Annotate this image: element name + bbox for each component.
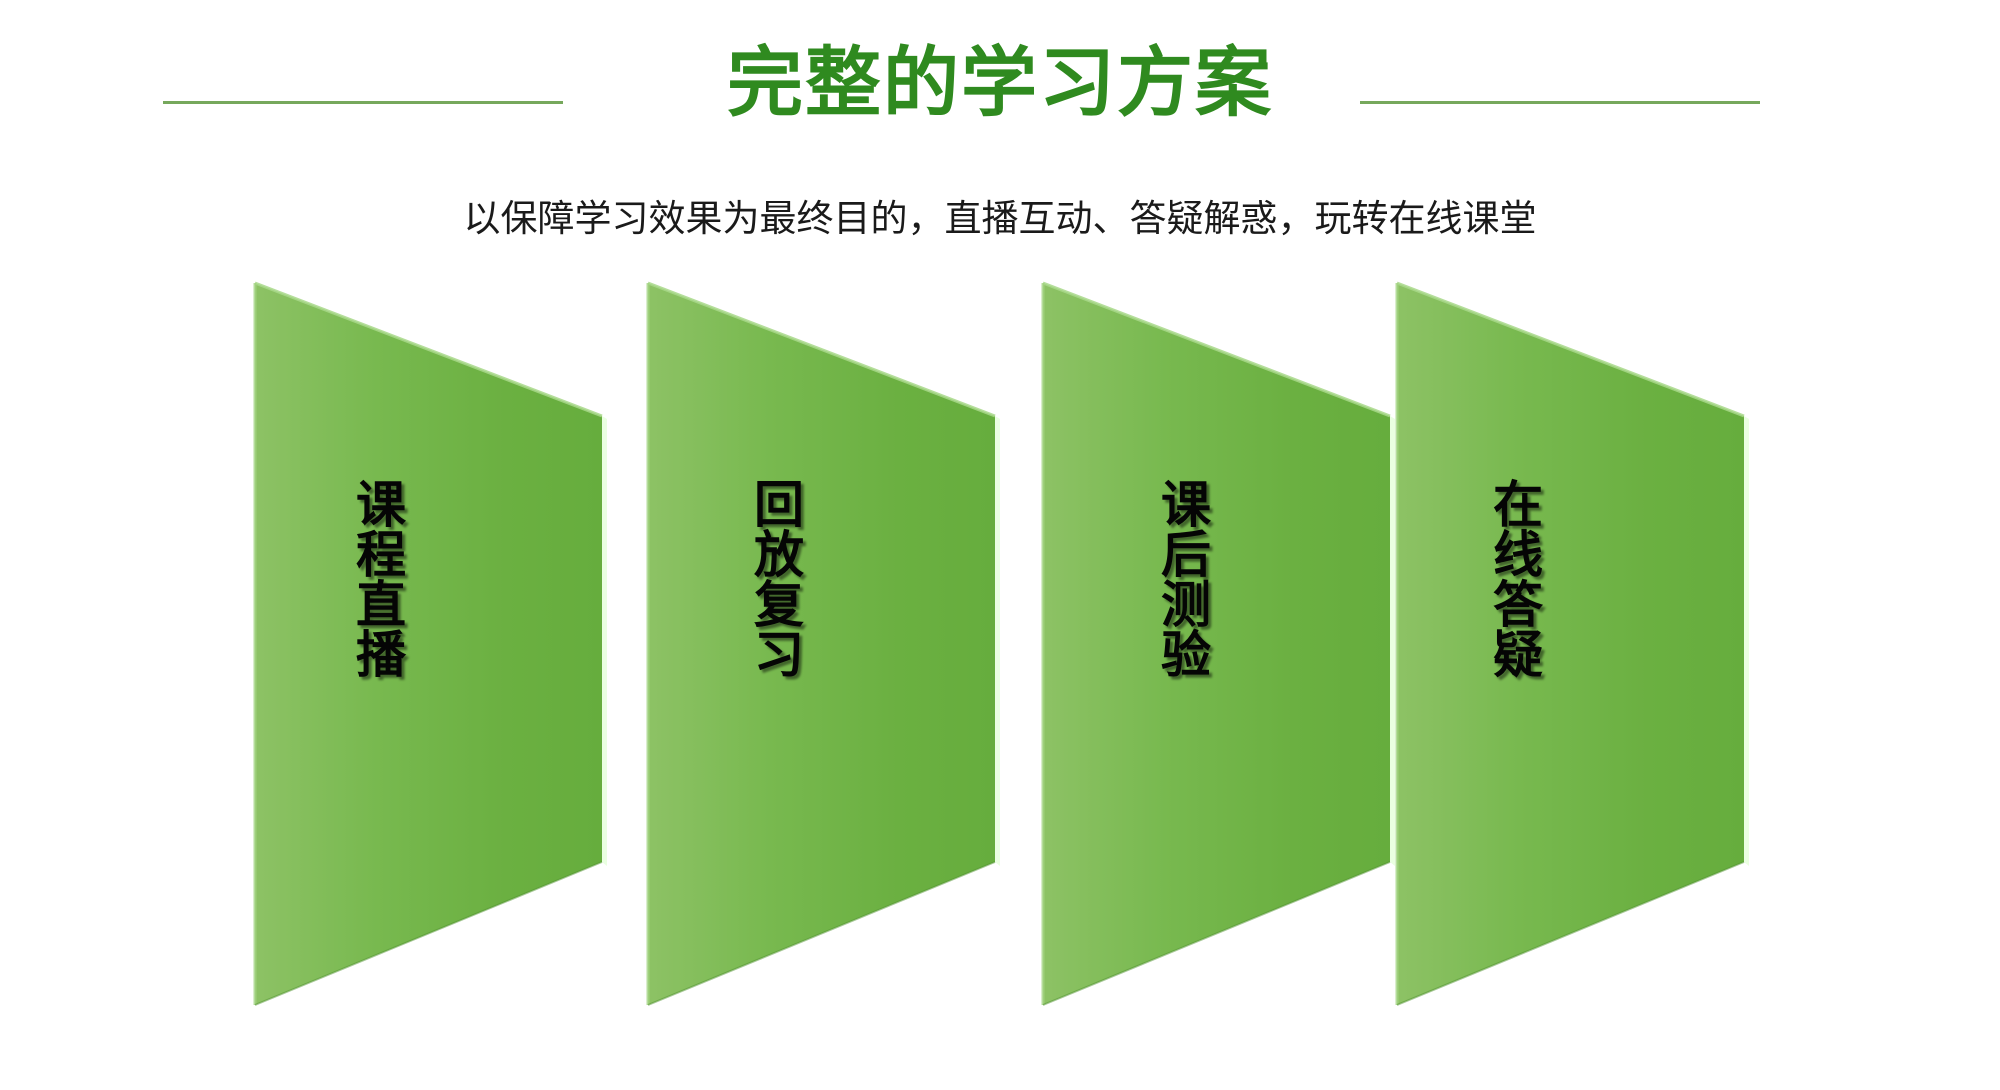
panel-course-live[interactable]: 课程直播 bbox=[250, 0, 610, 1090]
panel-label-3: 课后测验 bbox=[1150, 478, 1206, 678]
panel-replay-review[interactable]: 回放复习 bbox=[643, 0, 1003, 1090]
panel-shape-4 bbox=[1392, 0, 1752, 1090]
panel-shape-1 bbox=[250, 0, 610, 1090]
panel-label-2: 回放复习 bbox=[743, 478, 799, 678]
panel-shape-3 bbox=[1038, 0, 1398, 1090]
panel-shape-2 bbox=[643, 0, 1003, 1090]
panel-online-qa[interactable]: 在线答疑 bbox=[1392, 0, 1752, 1090]
panel-label-4: 在线答疑 bbox=[1482, 478, 1538, 678]
panel-group: 课程直播 回放复习 bbox=[0, 0, 2000, 1090]
panel-label-1: 课程直播 bbox=[345, 478, 401, 678]
panel-post-class-test[interactable]: 课后测验 bbox=[1038, 0, 1398, 1090]
